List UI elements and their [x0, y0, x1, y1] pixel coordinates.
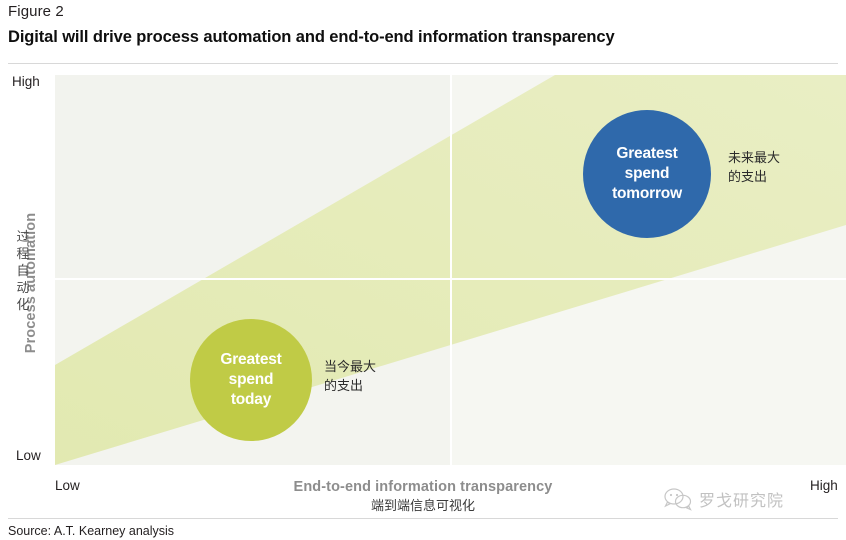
- figure-header: Figure 2 Digital will drive process auto…: [8, 2, 838, 48]
- watermark-text: 罗戈研究院: [699, 487, 784, 511]
- y-axis-title-zh-char: 程: [14, 245, 32, 262]
- chart-frame: High Low Low High Process automation 过 程…: [0, 66, 846, 476]
- y-axis-title-zh-char: 自: [14, 262, 32, 279]
- y-axis-title-zh-char: 动: [14, 279, 32, 296]
- bubble-tomorrow-line2: spend: [612, 164, 682, 184]
- y-axis-high-label: High: [12, 74, 40, 89]
- bubble-greatest-spend-today[interactable]: Greatest spend today: [190, 319, 312, 441]
- page-title: Digital will drive process automation an…: [8, 26, 838, 48]
- quadrant-divider-vertical: [450, 75, 452, 465]
- bubble-tomorrow-line3: tomorrow: [612, 184, 682, 204]
- bubble-today-text: Greatest spend today: [220, 350, 281, 410]
- bubble-tomorrow-line1: Greatest: [612, 144, 682, 164]
- annotation-today-zh-line2: 的支出: [324, 376, 376, 395]
- y-axis-title-zh-char: 过: [14, 228, 32, 245]
- annotation-tomorrow-zh: 未来最大 的支出: [728, 148, 780, 186]
- figure-label: Figure 2: [8, 2, 838, 22]
- y-axis-low-label: Low: [16, 448, 41, 463]
- y-axis-title-zh-char: 化: [14, 296, 32, 313]
- bubble-today-line3: today: [220, 390, 281, 410]
- watermark: 罗戈研究院: [663, 487, 784, 511]
- annotation-tomorrow-zh-line1: 未来最大: [728, 148, 780, 167]
- bubble-greatest-spend-tomorrow[interactable]: Greatest spend tomorrow: [583, 110, 711, 238]
- quadrant-divider-horizontal: [55, 278, 846, 280]
- wechat-icon: [663, 487, 693, 511]
- bubble-tomorrow-text: Greatest spend tomorrow: [612, 144, 682, 204]
- source-note: Source: A.T. Kearney analysis: [8, 524, 174, 538]
- y-axis-title-zh: 过 程 自 动 化: [14, 228, 32, 313]
- plot-area: Greatest spend tomorrow Greatest spend t…: [55, 75, 846, 465]
- annotation-tomorrow-zh-line2: 的支出: [728, 167, 780, 186]
- footer-divider: [8, 518, 838, 519]
- annotation-today-zh: 当今最大 的支出: [324, 357, 376, 395]
- annotation-today-zh-line1: 当今最大: [324, 357, 376, 376]
- bubble-today-line2: spend: [220, 370, 281, 390]
- header-divider: [8, 63, 838, 64]
- y-axis-title: Process automation 过 程 自 动 化: [0, 176, 52, 426]
- bubble-today-line1: Greatest: [220, 350, 281, 370]
